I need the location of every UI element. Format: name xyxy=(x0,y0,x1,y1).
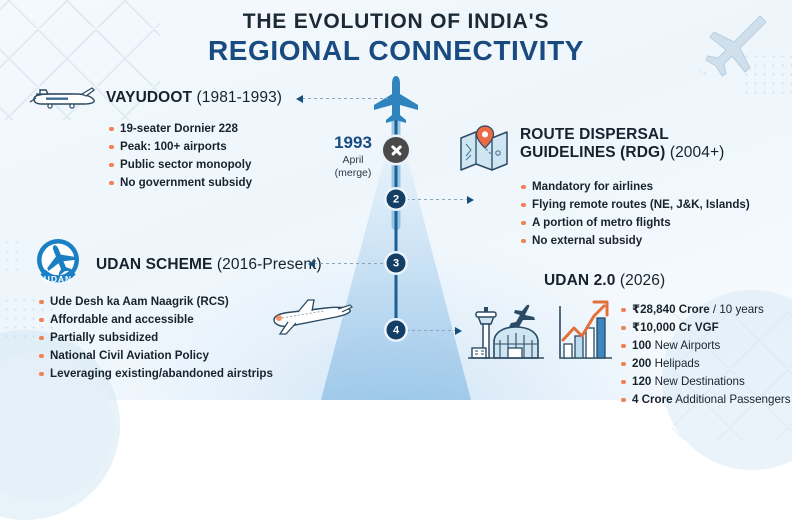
stat-value: ₹28,840 Crore xyxy=(632,303,710,316)
udan-scheme-title: UDAN SCHEME xyxy=(96,256,213,273)
list-item: ₹28,840 Crore / 10 years xyxy=(620,302,791,318)
list-item: A portion of metro flights xyxy=(520,215,750,231)
timeline-node-merge[interactable] xyxy=(383,137,409,163)
list-item: 4 Crore Additional Passengers xyxy=(620,392,791,408)
vayudoot-bullets: 19-seater Dornier 228 Peak: 100+ airport… xyxy=(108,121,282,191)
list-item: Ude Desh ka Aam Naagrik (RCS) xyxy=(38,294,322,310)
connector-to-udan-2 xyxy=(406,330,456,331)
growth-bar-chart-icon xyxy=(554,294,616,368)
udan-2-years: (2026) xyxy=(620,272,665,289)
list-item: Public sector monopoly xyxy=(108,157,282,173)
udan-scheme-years: (2016-Present) xyxy=(217,256,322,273)
arrow-right-icon xyxy=(467,196,474,204)
section-udan-2: UDAN 2.0 (2026) xyxy=(464,272,791,410)
timeline-node-4[interactable]: 4 xyxy=(387,321,406,340)
timeline-node-3[interactable]: 3 xyxy=(387,254,406,273)
merge-year: 1993 xyxy=(322,133,384,154)
stat-value: 100 xyxy=(632,339,651,352)
udan-scheme-heading: UDAN SCHEME (2016-Present) xyxy=(96,236,322,274)
list-item: National Civil Aviation Policy xyxy=(38,348,322,364)
list-item: No external subsidy xyxy=(520,233,750,249)
list-item: Mandatory for airlines xyxy=(520,179,750,195)
connector-to-rdg xyxy=(406,199,468,200)
dornier-turboprop-icon xyxy=(26,84,98,118)
udan-2-bullets: ₹28,840 Crore / 10 years ₹10,000 Cr VGF … xyxy=(620,302,791,410)
udan-2-heading: UDAN 2.0 (2026) xyxy=(544,272,791,290)
list-item: Partially subsidized xyxy=(38,330,322,346)
section-vayudoot: VAYUDOOT (1981-1993) 19-seater Dornier 2… xyxy=(26,84,282,193)
rdg-bullets: Mandatory for airlines Flying remote rou… xyxy=(520,179,750,249)
svg-text:UDAN: UDAN xyxy=(44,274,72,284)
dot-grid-decoration-mid-left xyxy=(0,238,24,278)
stat-label: / 10 years xyxy=(710,303,764,316)
rdg-heading: ROUTE DISPERSAL GUIDELINES (RDG) (2004+) xyxy=(520,124,724,163)
list-item: No government subsidy xyxy=(108,175,282,191)
arrow-right-icon xyxy=(455,327,462,335)
infographic-canvas: THE EVOLUTION OF INDIA'S REGIONAL CONNEC… xyxy=(0,0,792,400)
stat-value: 200 xyxy=(632,357,651,370)
section-rdg: ROUTE DISPERSAL GUIDELINES (RDG) (2004+)… xyxy=(458,124,750,251)
stat-label: New Airports xyxy=(651,339,720,352)
title-line-2: REGIONAL CONNECTIVITY xyxy=(0,35,792,66)
list-item: 100 New Airports xyxy=(620,338,791,354)
stat-label: Helipads xyxy=(651,357,699,370)
page-title: THE EVOLUTION OF INDIA'S REGIONAL CONNEC… xyxy=(0,10,792,66)
airport-terminal-icon xyxy=(464,294,550,368)
vayudoot-years: (1981-1993) xyxy=(197,89,283,106)
vayudoot-title: VAYUDOOT xyxy=(106,89,192,106)
rdg-title-line-2: GUIDELINES (RDG) xyxy=(520,144,665,161)
rdg-title-line-1: ROUTE DISPERSAL xyxy=(520,126,724,144)
list-item: Leveraging existing/abandoned airstrips xyxy=(38,366,322,382)
stat-value: 120 xyxy=(632,375,651,388)
list-item: 200 Helipads xyxy=(620,356,791,372)
merge-note: (merge) xyxy=(322,167,384,180)
udan-logo-icon: UDAN xyxy=(30,236,88,288)
list-item: Flying remote routes (NE, J&K, Islands) xyxy=(520,197,750,213)
folded-map-pin-icon xyxy=(458,124,512,174)
timeline-node-2[interactable]: 2 xyxy=(387,190,406,209)
connector-to-udan-scheme xyxy=(314,263,386,264)
airplane-top-icon xyxy=(370,74,422,126)
list-item: 19-seater Dornier 228 xyxy=(108,121,282,137)
udan-scheme-bullets: Ude Desh ka Aam Naagrik (RCS) Affordable… xyxy=(38,294,322,382)
stat-value: ₹10,000 Cr VGF xyxy=(632,321,719,334)
arrow-left-icon xyxy=(296,95,303,103)
vayudoot-heading: VAYUDOOT (1981-1993) xyxy=(106,84,282,107)
title-line-1: THE EVOLUTION OF INDIA'S xyxy=(0,10,792,33)
rdg-years: (2004+) xyxy=(670,144,725,161)
arrow-left-icon xyxy=(308,260,315,268)
list-item: Peak: 100+ airports xyxy=(108,139,282,155)
merge-label: 1993 April (merge) xyxy=(322,133,384,179)
udan-2-title: UDAN 2.0 xyxy=(544,272,615,289)
connector-to-vayudoot xyxy=(302,98,388,99)
list-item: 120 New Destinations xyxy=(620,374,791,390)
list-item: Affordable and accessible xyxy=(38,312,322,328)
section-udan-scheme: UDAN UDAN SCHEME (2016-Present) Ude Desh… xyxy=(30,236,322,384)
merge-month: April xyxy=(322,154,384,167)
list-item: ₹10,000 Cr VGF xyxy=(620,320,791,336)
stat-label: New Destinations xyxy=(651,375,744,388)
